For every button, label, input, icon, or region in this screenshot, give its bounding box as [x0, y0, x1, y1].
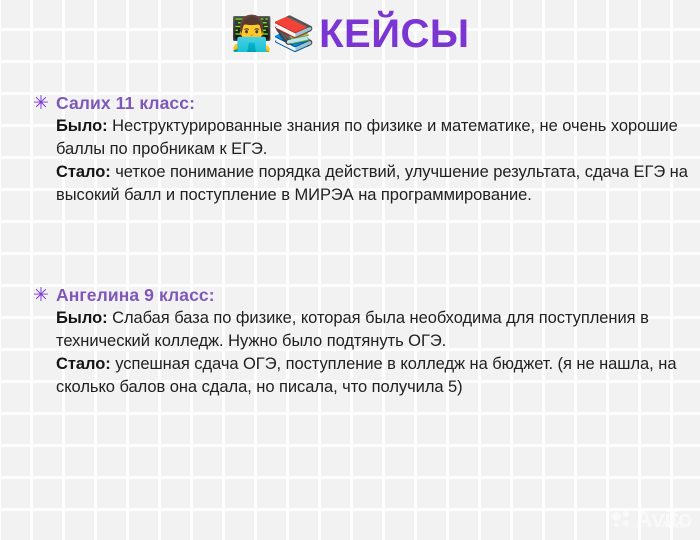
- case-content: Ангелина 9 класс: Было: Слабая база по ф…: [56, 284, 690, 399]
- case-before-text: Слабая база по физике, которая была необ…: [56, 309, 649, 350]
- case-before-paragraph: Было: Слабая база по физике, которая был…: [56, 307, 690, 353]
- asterisk-bullet-icon: ✳: [30, 286, 52, 305]
- case-after-paragraph: Стало: успешная сдача ОГЭ, поступление в…: [56, 353, 690, 399]
- case-heading: Салих 11 класс:: [56, 92, 690, 115]
- case-after-label: Стало:: [56, 163, 111, 181]
- avito-watermark: Avito Avito: [612, 508, 692, 532]
- case-after-label: Стало:: [56, 355, 111, 373]
- slide-canvas: 👨‍💻 📚 КЕЙСЫ ✳ Салих 11 класс: Было: Нест…: [0, 0, 700, 540]
- case-content: Салих 11 класс: Было: Неструктурированны…: [56, 92, 690, 207]
- case-before-paragraph: Было: Неструктурированные знания по физи…: [56, 115, 690, 161]
- case-before-label: Было:: [56, 117, 108, 135]
- avito-logo-icon: [612, 511, 632, 529]
- books-icon: 📚: [273, 17, 313, 51]
- case-heading: Ангелина 9 класс:: [56, 284, 690, 307]
- case-before-text: Неструктурированные знания по физике и м…: [56, 117, 678, 158]
- asterisk-bullet-icon: ✳: [30, 94, 52, 113]
- avito-watermark-subtext: Avito: [661, 520, 686, 530]
- case-after-text: успешная сдача ОГЭ, поступление в коллед…: [56, 355, 676, 396]
- case-after-paragraph: Стало: четкое понимание порядка действий…: [56, 161, 690, 207]
- case-after-text: четкое понимание порядка действий, улучш…: [56, 163, 688, 204]
- case-before-label: Было:: [56, 309, 108, 327]
- case-item: ✳ Салих 11 класс: Было: Неструктурирован…: [30, 92, 690, 207]
- page-title-text: КЕЙСЫ: [319, 14, 469, 54]
- page-title: 👨‍💻 📚 КЕЙСЫ: [0, 14, 700, 54]
- case-item: ✳ Ангелина 9 класс: Было: Слабая база по…: [30, 284, 690, 399]
- avito-watermark-text: Avito: [635, 508, 692, 532]
- person-with-laptop-icon: 👨‍💻: [230, 17, 270, 51]
